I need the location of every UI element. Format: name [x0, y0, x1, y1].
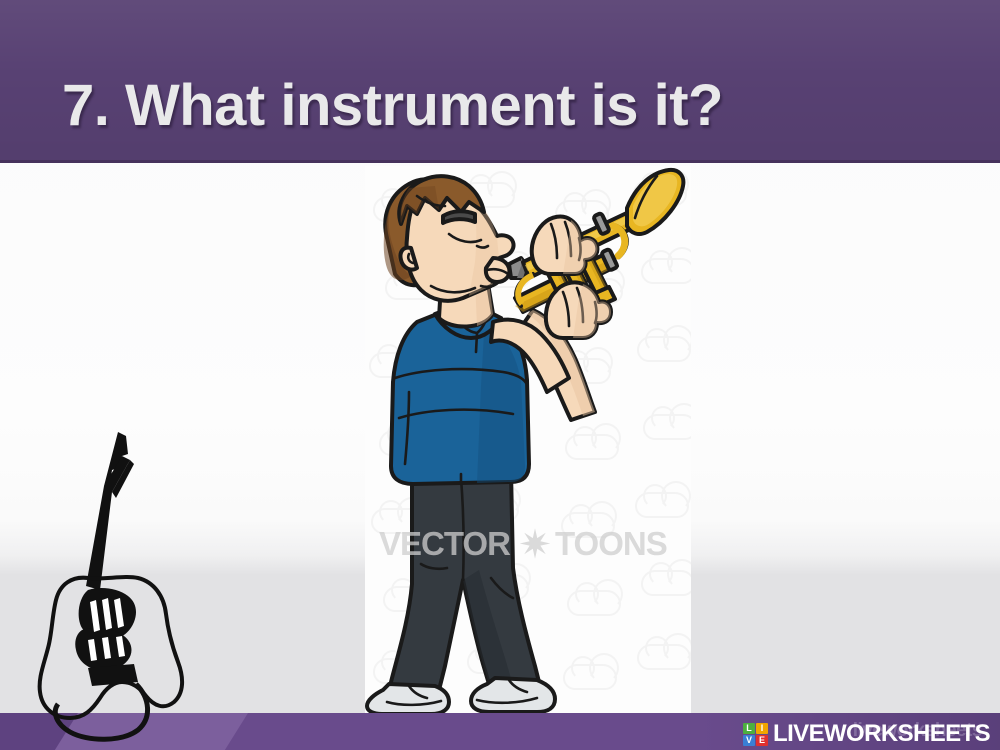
logo-wordmark: LIVEWORKSHEETS — [773, 722, 990, 746]
watermark-star-icon: ✷ — [515, 525, 555, 565]
logo-tile-v: V — [743, 735, 755, 746]
electric-guitar-silhouette-icon — [26, 430, 186, 750]
liveworksheets-logo[interactable]: L I V E LIVEWORKSHEETS — [743, 722, 990, 746]
page-title: 7. What instrument is it? — [62, 72, 723, 139]
logo-tile-l: L — [743, 723, 755, 734]
header-band: 7. What instrument is it? — [0, 0, 1000, 163]
watermark-vector-text: VECTOR — [379, 525, 510, 563]
worksheet-slide: 7. What instrument is it? — [0, 0, 1000, 750]
logo-tile-i: I — [756, 723, 768, 734]
watermark-toons-text: TOONS — [555, 525, 667, 563]
trumpet-player-illustration: .ol { stroke:#1a1a1a; stroke-width:4; st… — [365, 166, 691, 713]
logo-tiles: L I V E — [743, 723, 768, 746]
logo-tile-e: E — [756, 735, 768, 746]
question-image-panel: .ol { stroke:#1a1a1a; stroke-width:4; st… — [365, 166, 691, 713]
